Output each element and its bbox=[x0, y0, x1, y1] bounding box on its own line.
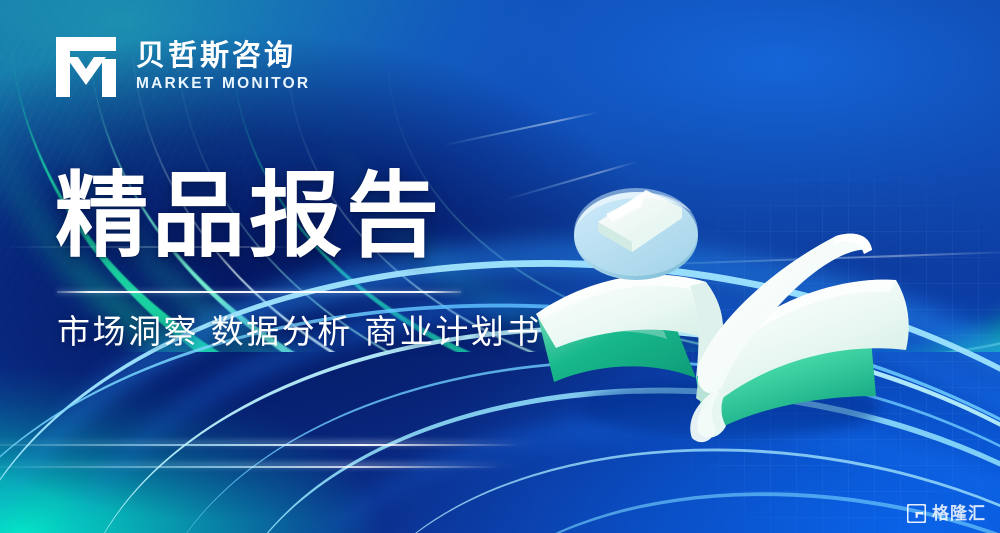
brand-name-en: MARKET MONITOR bbox=[136, 76, 310, 92]
brand-logo-text: 贝哲斯咨询 MARKET MONITOR bbox=[136, 42, 310, 92]
title-divider bbox=[57, 291, 461, 293]
watermark: 格隆汇 bbox=[907, 504, 986, 523]
brand-logo: 贝哲斯咨询 MARKET MONITOR bbox=[52, 33, 310, 101]
market-monitor-m-mark-icon bbox=[52, 33, 120, 101]
gelonghui-g-mark-icon bbox=[907, 504, 926, 523]
brand-name-cn: 贝哲斯咨询 bbox=[136, 42, 310, 71]
headline-block: 精品报告 市场洞察 数据分析 商业计划书 bbox=[55, 168, 542, 348]
page-title: 精品报告 bbox=[55, 168, 542, 265]
report-cover-poster: 贝哲斯咨询 MARKET MONITOR 精品报告 市场洞察 数据分析 商业计划… bbox=[0, 0, 1000, 533]
page-subtitle: 市场洞察 数据分析 商业计划书 bbox=[57, 315, 542, 348]
watermark-text: 格隆汇 bbox=[932, 505, 986, 522]
open-book-3d-illustration bbox=[520, 150, 940, 450]
